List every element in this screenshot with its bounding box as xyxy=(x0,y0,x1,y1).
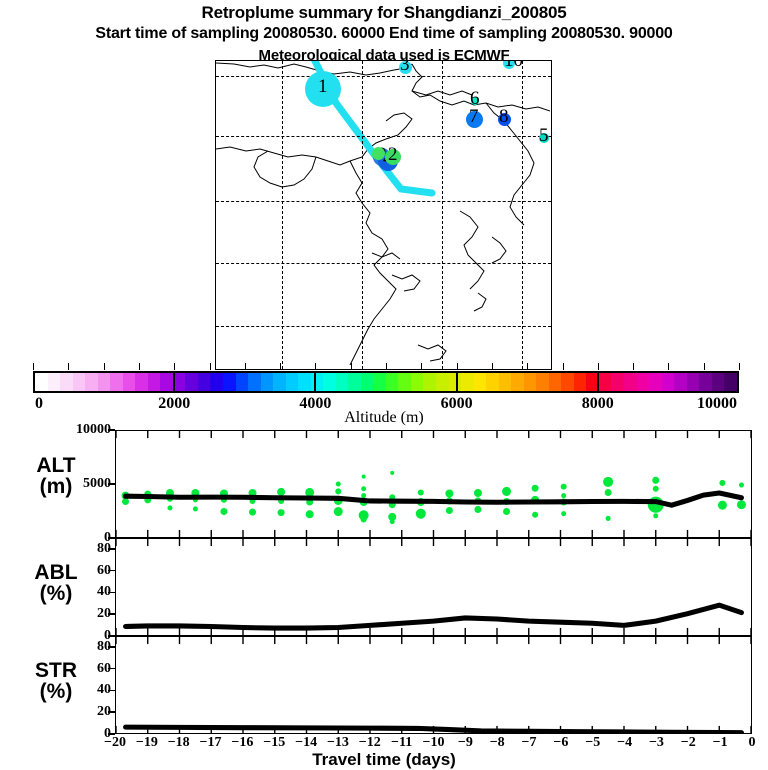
colorbar-tick xyxy=(68,363,69,370)
abl-label-line1: ABL xyxy=(8,562,104,583)
colorbar-segment-34 xyxy=(461,373,474,391)
colorbar-segment-53 xyxy=(699,373,712,391)
alt-scatter-point xyxy=(361,516,367,522)
alt-series-line xyxy=(126,493,742,505)
map-gridline-v-1 xyxy=(362,61,363,369)
alt-scatter-point xyxy=(336,481,341,486)
abl-series-line xyxy=(126,605,742,628)
alt-scatter-point xyxy=(278,509,285,516)
str-y-label-20: 20 xyxy=(97,704,111,720)
x-axis-tick-labels: −20−19−18−17−16−15−14−13−12−11−10−9−8−7−… xyxy=(115,735,752,751)
alt-scatter-point xyxy=(361,486,366,491)
alt-scatter-point xyxy=(532,485,539,492)
alt-scatter-point xyxy=(474,489,482,497)
alt-scatter-point xyxy=(532,512,538,518)
x-tick-label--7: −7 xyxy=(522,735,537,751)
colorbar-segment-28 xyxy=(386,373,399,391)
colorbar-segment-41 xyxy=(549,373,562,391)
map-marker-label-10: 10 xyxy=(504,61,523,70)
x-tick-label--4: −4 xyxy=(617,735,632,751)
colorbar-tick xyxy=(104,363,105,370)
colorbar-tick xyxy=(210,363,211,370)
map-gridline-h-0 xyxy=(216,76,551,77)
alt-scatter-point xyxy=(306,510,314,518)
str-y-label-60: 60 xyxy=(97,661,111,677)
colorbar-tick xyxy=(386,363,387,370)
x-tick-label-0: 0 xyxy=(749,735,756,751)
colorbar-divider-2 xyxy=(456,371,458,393)
colorbar-segment-39 xyxy=(524,373,537,391)
alt-scatter-point xyxy=(737,500,746,509)
colorbar-segment-6 xyxy=(110,373,123,391)
colorbar-tick xyxy=(280,363,281,370)
alt-scatter-point xyxy=(603,477,613,487)
x-tick-label--17: −17 xyxy=(200,735,222,751)
alt-scatter-point xyxy=(249,509,256,516)
colorbar-segment-9 xyxy=(148,373,161,391)
alt-scatter-point xyxy=(362,475,366,479)
colorbar-segment-7 xyxy=(123,373,136,391)
colorbar-segment-16 xyxy=(236,373,249,391)
alt-scatter-point xyxy=(653,513,658,518)
alt-scatter-point xyxy=(653,486,659,492)
alt-scatter-point xyxy=(390,519,395,524)
map-gridline-v-3 xyxy=(522,61,523,369)
colorbar-tick xyxy=(563,363,564,370)
map-marker-label-3: 3 xyxy=(400,61,410,74)
abl-plot-canvas xyxy=(116,539,751,635)
map-marker-label-8: 8 xyxy=(499,107,509,126)
alt-scatter-point xyxy=(193,506,198,511)
x-tick-label--11: −11 xyxy=(391,735,412,751)
x-tick-label--14: −14 xyxy=(295,735,317,751)
alt-label-line1: ALT xyxy=(8,455,104,476)
abl-y-label-40: 40 xyxy=(97,584,111,600)
alt-scatter-point xyxy=(503,508,510,515)
colorbar-segment-5 xyxy=(98,373,111,391)
abl-y-label-60: 60 xyxy=(97,563,111,579)
colorbar-segment-30 xyxy=(411,373,424,391)
colorbar-segment-12 xyxy=(185,373,198,391)
alt-scatter-point xyxy=(220,508,227,515)
alt-scatter-point xyxy=(416,509,426,519)
alt-scatter-point xyxy=(561,493,566,498)
colorbar-tick xyxy=(139,363,140,370)
map-clip: 13106785942 xyxy=(216,61,551,369)
colorbar-segment-32 xyxy=(436,373,449,391)
x-tick-label--9: −9 xyxy=(458,735,473,751)
colorbar-segment-47 xyxy=(624,373,637,391)
alt-plot-panel xyxy=(115,430,752,538)
alt-scatter-point xyxy=(122,498,129,505)
colorbar-segment-43 xyxy=(574,373,587,391)
str-label-line1: STR xyxy=(8,660,104,681)
colorbar-divider-0 xyxy=(173,371,175,393)
colorbar-divider-3 xyxy=(597,371,599,393)
colorbar-segment-40 xyxy=(536,373,549,391)
map-gridline-h-1 xyxy=(216,136,551,137)
x-tick-label--8: −8 xyxy=(490,735,505,751)
map-marker-u10 xyxy=(372,147,385,160)
colorbar-segment-8 xyxy=(135,373,148,391)
colorbar-segment-50 xyxy=(662,373,675,391)
str-y-label-40: 40 xyxy=(97,682,111,698)
alt-scatter-point xyxy=(277,488,285,496)
alt-scatter-point xyxy=(739,483,744,488)
x-tick-label--20: −20 xyxy=(104,735,126,751)
alt-scatter-point xyxy=(334,507,343,516)
colorbar-segment-17 xyxy=(248,373,261,391)
abl-plot-panel xyxy=(115,538,752,636)
colorbar-axis-title: Altitude (m) xyxy=(0,409,768,427)
colorbar-tick xyxy=(527,363,528,370)
abl-y-label-80: 80 xyxy=(97,541,111,557)
colorbar-segment-55 xyxy=(724,373,737,391)
colorbar-segment-36 xyxy=(486,373,499,391)
colorbar-segment-27 xyxy=(373,373,386,391)
x-tick-label--3: −3 xyxy=(649,735,664,751)
alt-plot-canvas xyxy=(116,431,751,537)
alt-scatter-point xyxy=(418,489,424,495)
colorbar-tick xyxy=(633,363,634,370)
alt-scatter-point xyxy=(502,487,511,496)
colorbar-segment-45 xyxy=(599,373,612,391)
colorbar-segment-37 xyxy=(499,373,512,391)
colorbar-segment-0 xyxy=(35,373,48,391)
colorbar-segment-4 xyxy=(85,373,98,391)
colorbar-tick xyxy=(315,363,316,370)
alt-scatter-point xyxy=(474,506,481,513)
x-tick-label--6: −6 xyxy=(553,735,568,751)
abl-row-label: ABL (%) xyxy=(8,562,104,604)
colorbar-segment-35 xyxy=(474,373,487,391)
colorbar-segment-38 xyxy=(511,373,524,391)
colorbar-tick xyxy=(704,363,705,370)
alt-scatter-point xyxy=(561,511,566,516)
colorbar-segment-26 xyxy=(361,373,374,391)
map-marker-label-2: 2 xyxy=(388,145,398,164)
colorbar-segment-13 xyxy=(198,373,211,391)
alt-scatter-point xyxy=(718,501,727,510)
x-tick-label--10: −10 xyxy=(423,735,445,751)
colorbar-tick xyxy=(492,363,493,370)
x-axis-title: Travel time (days) xyxy=(0,750,768,770)
alt-scatter-point xyxy=(390,471,394,475)
alt-scatter-point xyxy=(446,507,453,514)
colorbar-segment-10 xyxy=(160,373,173,391)
altitude-colorbar: 0200040006000800010000 xyxy=(33,371,739,393)
alt-scatter-point xyxy=(605,489,612,496)
colorbar-tick xyxy=(351,363,352,370)
map-gridline-h-4 xyxy=(216,326,551,327)
map-gridline-h-2 xyxy=(216,201,551,202)
colorbar-segment-2 xyxy=(60,373,73,391)
colorbar-tick xyxy=(421,363,422,370)
map-marker-label-1: 1 xyxy=(318,77,328,96)
colorbar-segment-14 xyxy=(210,373,223,391)
colorbar-tick xyxy=(33,363,34,370)
alt-scatter-point xyxy=(652,477,659,484)
x-tick-label--13: −13 xyxy=(327,735,349,751)
colorbar-segment-29 xyxy=(398,373,411,391)
map-gridline-h-3 xyxy=(216,263,551,264)
str-plot-canvas xyxy=(116,637,751,733)
colorbar-segment-20 xyxy=(286,373,299,391)
str-plot-panel xyxy=(115,636,752,734)
colorbar-segment-19 xyxy=(273,373,286,391)
colorbar-tick xyxy=(668,363,669,370)
colorbar-tick xyxy=(457,363,458,370)
alt-scatter-point xyxy=(561,484,567,490)
colorbar-divider-1 xyxy=(314,371,316,393)
colorbar-segment-52 xyxy=(687,373,700,391)
retroplume-map: 13106785942 xyxy=(215,60,552,370)
map-gridline-v-2 xyxy=(442,61,443,369)
alt-scatter-point xyxy=(167,505,172,510)
page-title: Retroplume summary for Shangdianzi_20080… xyxy=(0,3,768,23)
colorbar-segment-22 xyxy=(311,373,324,391)
x-tick-label--5: −5 xyxy=(585,735,600,751)
colorbar-segment-24 xyxy=(336,373,349,391)
alt-scatter-point xyxy=(361,493,366,498)
colorbar-segment-46 xyxy=(611,373,624,391)
x-tick-label--12: −12 xyxy=(359,735,381,751)
alt-scatter-point xyxy=(606,516,611,521)
colorbar-tick xyxy=(174,363,175,370)
colorbar-segment-51 xyxy=(674,373,687,391)
alt-scatter-point xyxy=(335,488,341,494)
colorbar-tick xyxy=(598,363,599,370)
colorbar-segment-1 xyxy=(48,373,61,391)
str-label-line2: (%) xyxy=(8,681,104,702)
map-marker-label-7: 7 xyxy=(469,107,479,126)
colorbar-segment-21 xyxy=(298,373,311,391)
colorbar-segment-23 xyxy=(323,373,336,391)
alt-y-label-10000: 10000 xyxy=(76,422,111,438)
alt-scatter-point xyxy=(719,480,725,486)
map-marker-label-5: 5 xyxy=(539,126,549,145)
x-tick-label--15: −15 xyxy=(263,735,285,751)
colorbar-tick xyxy=(245,363,246,370)
x-tick-label--2: −2 xyxy=(681,735,696,751)
colorbar-gradient xyxy=(33,371,739,393)
colorbar-tick xyxy=(739,363,740,370)
colorbar-segment-18 xyxy=(261,373,274,391)
x-tick-label--16: −16 xyxy=(231,735,253,751)
colorbar-segment-42 xyxy=(561,373,574,391)
colorbar-segment-54 xyxy=(712,373,725,391)
colorbar-segment-31 xyxy=(423,373,436,391)
str-row-label: STR (%) xyxy=(8,660,104,702)
x-tick-label--19: −19 xyxy=(136,735,158,751)
map-gridline-v-0 xyxy=(282,61,283,369)
colorbar-segment-49 xyxy=(649,373,662,391)
abl-y-label-20: 20 xyxy=(97,606,111,622)
x-tick-label--18: −18 xyxy=(168,735,190,751)
colorbar-segment-25 xyxy=(348,373,361,391)
colorbar-segment-3 xyxy=(73,373,86,391)
colorbar-segment-48 xyxy=(637,373,650,391)
abl-label-line2: (%) xyxy=(8,583,104,604)
alt-y-label-5000: 5000 xyxy=(83,476,111,492)
str-y-label-80: 80 xyxy=(97,639,111,655)
colorbar-segment-15 xyxy=(223,373,236,391)
alt-scatter-point xyxy=(445,490,453,498)
x-tick-label--1: −1 xyxy=(713,735,728,751)
sampling-time-subtitle: Start time of sampling 20080530. 60000 E… xyxy=(0,25,768,43)
